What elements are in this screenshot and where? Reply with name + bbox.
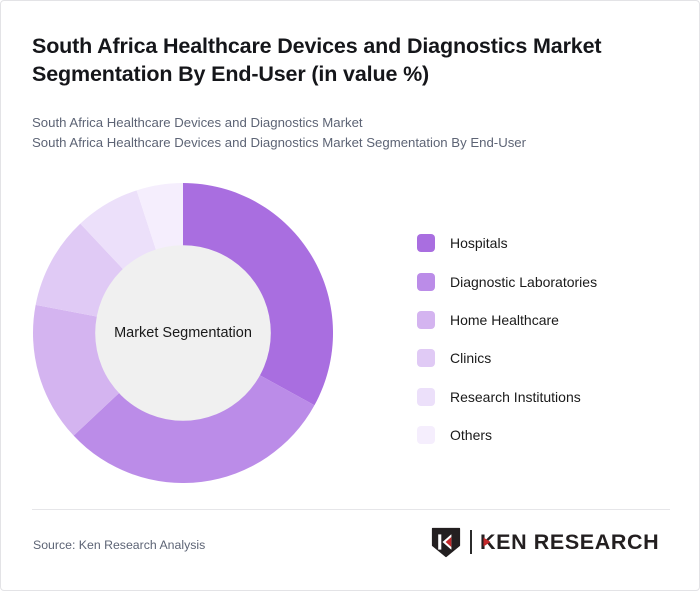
donut-svg: Hospitals: 33%Diagnostic Laboratories: 3…: [33, 183, 333, 483]
logo-wordmark: KEN RESEARCH: [480, 529, 668, 555]
legend-item-clinics[interactable]: Clinics: [417, 339, 667, 377]
legend-item-label: Diagnostic Laboratories: [450, 274, 597, 290]
chart-legend: HospitalsDiagnostic LaboratoriesHome Hea…: [417, 224, 667, 454]
source-note: Source: Ken Research Analysis: [33, 538, 205, 552]
legend-item-label: Research Institutions: [450, 389, 581, 405]
legend-swatch-icon: [417, 311, 435, 329]
ken-research-logo: KEN RESEARCH: [431, 524, 668, 560]
page-title: South Africa Healthcare Devices and Diag…: [32, 32, 632, 88]
legend-item-diagnostic-laboratories[interactable]: Diagnostic Laboratories: [417, 262, 667, 300]
legend-item-label: Home Healthcare: [450, 312, 559, 328]
subtitle-block: South Africa Healthcare Devices and Diag…: [32, 113, 652, 152]
logo-divider: [470, 530, 472, 554]
chart-area: Hospitals: 33%Diagnostic Laboratories: 3…: [1, 166, 700, 501]
ken-research-shield-icon: [431, 527, 461, 558]
footer-divider: [32, 509, 670, 510]
subtitle-line-1: South Africa Healthcare Devices and Diag…: [32, 113, 652, 133]
legend-swatch-icon: [417, 234, 435, 252]
legend-swatch-icon: [417, 426, 435, 444]
legend-item-research-institutions[interactable]: Research Institutions: [417, 378, 667, 416]
legend-item-label: Clinics: [450, 350, 491, 366]
legend-swatch-icon: [417, 388, 435, 406]
chart-card: South Africa Healthcare Devices and Diag…: [0, 0, 700, 591]
legend-swatch-icon: [417, 273, 435, 291]
legend-item-label: Hospitals: [450, 235, 508, 251]
legend-item-label: Others: [450, 427, 492, 443]
legend-item-home-healthcare[interactable]: Home Healthcare: [417, 301, 667, 339]
donut-chart: Hospitals: 33%Diagnostic Laboratories: 3…: [33, 183, 333, 483]
legend-item-hospitals[interactable]: Hospitals: [417, 224, 667, 262]
donut-hole: [95, 245, 271, 421]
legend-item-others[interactable]: Others: [417, 416, 667, 454]
logo-wordmark-text: KEN RESEARCH: [480, 530, 659, 554]
subtitle-line-2: South Africa Healthcare Devices and Diag…: [32, 133, 652, 153]
legend-swatch-icon: [417, 349, 435, 367]
